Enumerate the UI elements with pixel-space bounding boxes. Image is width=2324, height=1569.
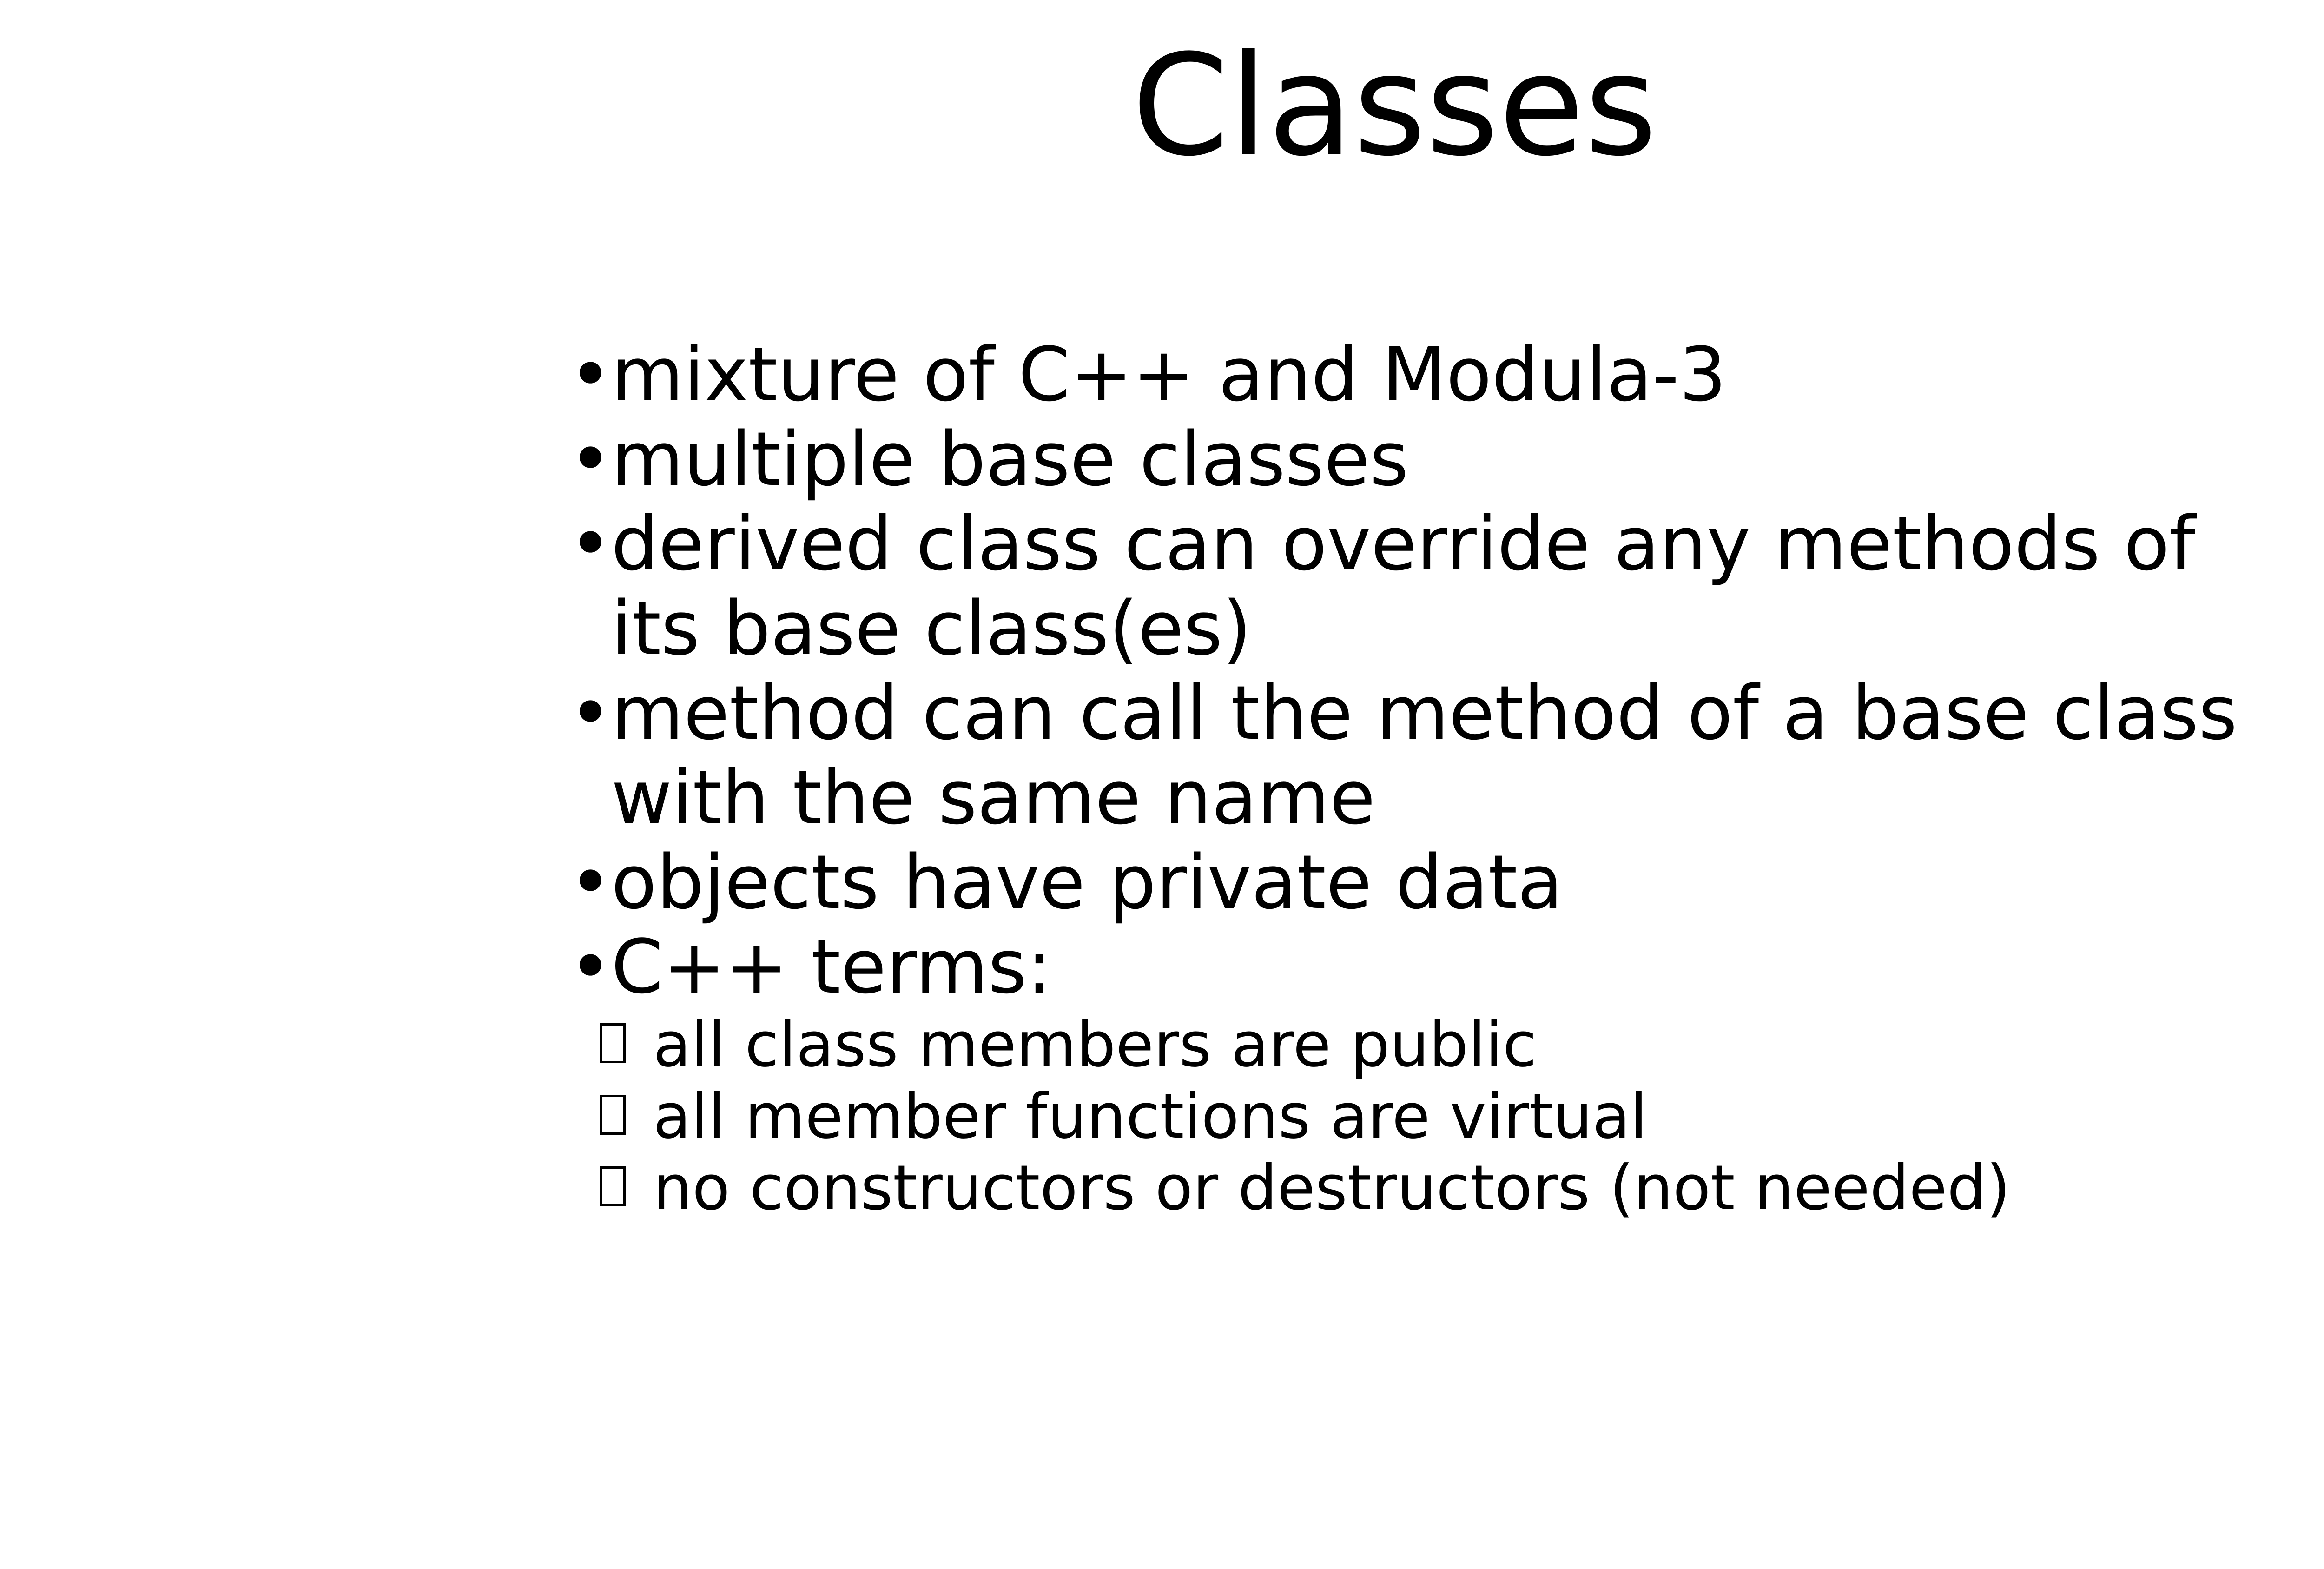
list-item-label: no constructors or destructors (not need… bbox=[653, 1152, 2280, 1224]
list-item-label: mixture of C++ and Modula-3 bbox=[611, 332, 2280, 417]
bullet-dot-icon: • bbox=[568, 925, 610, 1009]
list-item-label: C++ terms: bbox=[611, 925, 2280, 1009]
list-item[interactable]: all class members are public bbox=[560, 1009, 2280, 1081]
bullet-box-icon bbox=[600, 1095, 626, 1135]
bullet-box-icon bbox=[600, 1023, 626, 1063]
sub-bullet-list: all class members are public all member … bbox=[560, 1009, 2280, 1224]
sub-list-container: all class members are public all member … bbox=[560, 1009, 2280, 1224]
slide-body: • mixture of C++ and Modula-3 • multiple… bbox=[560, 332, 2280, 1224]
page-title: Classes bbox=[0, 28, 2324, 184]
list-item[interactable]: • mixture of C++ and Modula-3 bbox=[560, 332, 2280, 417]
list-item[interactable]: • derived class can override any methods… bbox=[560, 502, 2280, 671]
bullet-dot-icon: • bbox=[568, 332, 610, 417]
list-item-label: all member functions are virtual bbox=[653, 1081, 2280, 1152]
list-item[interactable]: • objects have private data bbox=[560, 840, 2280, 925]
bullet-dot-icon: • bbox=[568, 502, 610, 586]
list-item-label: objects have private data bbox=[611, 840, 2280, 925]
bullet-dot-icon: • bbox=[568, 671, 610, 755]
list-item-label: multiple base classes bbox=[611, 417, 2280, 502]
list-item[interactable]: • multiple base classes bbox=[560, 417, 2280, 502]
list-item[interactable]: • method can call the method of a base c… bbox=[560, 671, 2280, 840]
slide: Classes • mixture of C++ and Modula-3 • … bbox=[0, 0, 2324, 1569]
list-item[interactable]: all member functions are virtual bbox=[560, 1081, 2280, 1152]
list-item-label: derived class can override any methods o… bbox=[611, 502, 2280, 671]
list-item[interactable]: • C++ terms: bbox=[560, 925, 2280, 1009]
list-item-label: method can call the method of a base cla… bbox=[611, 671, 2280, 840]
bullet-dot-icon: • bbox=[568, 417, 610, 502]
bullet-dot-icon: • bbox=[568, 840, 610, 925]
bullet-list: • mixture of C++ and Modula-3 • multiple… bbox=[560, 332, 2280, 1224]
list-item-label: all class members are public bbox=[653, 1009, 2280, 1081]
list-item[interactable]: no constructors or destructors (not need… bbox=[560, 1152, 2280, 1224]
bullet-box-icon bbox=[600, 1166, 626, 1206]
